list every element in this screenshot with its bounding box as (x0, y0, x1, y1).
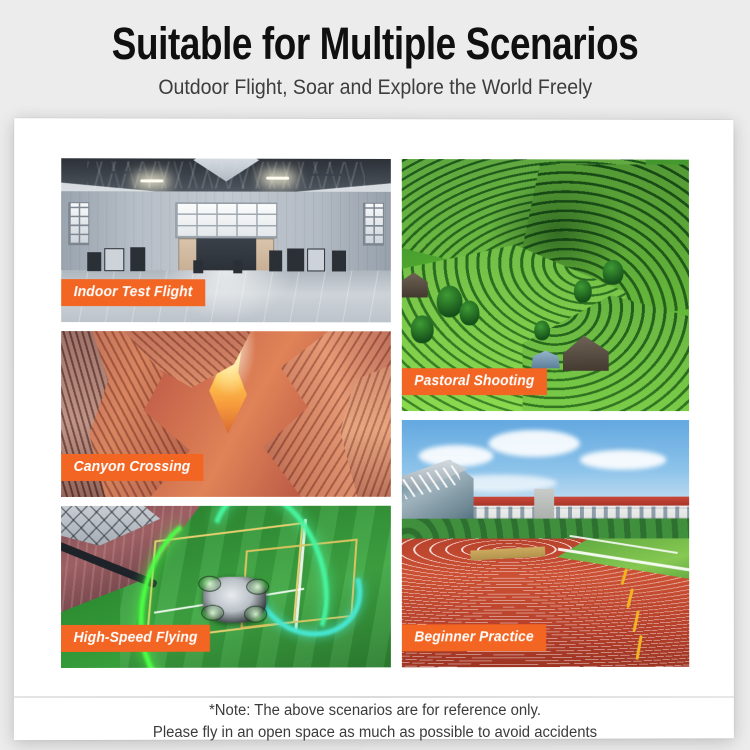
scenario-tile-canyon-crossing[interactable]: Canyon Crossing (61, 331, 391, 497)
hangar-equipment (131, 247, 146, 272)
side-window (68, 202, 89, 245)
hangar-equipment (88, 252, 101, 272)
clerestory-window (175, 203, 277, 239)
scenario-tile-indoor-test-flight[interactable]: Indoor Test Flight (61, 158, 391, 322)
hangar-equipment (287, 249, 303, 272)
gallery-card-wrapper: Indoor Test Flight Canyon Crossing (14, 118, 736, 740)
tree-icon (534, 320, 550, 340)
cloud-icon (488, 430, 580, 457)
page-title: Suitable for Multiple Scenarios (112, 20, 639, 67)
gallery-column-right: Pastoral Shooting (402, 159, 689, 667)
tree-icon (410, 315, 433, 343)
page-root: Suitable for Multiple Scenarios Outdoor … (0, 0, 750, 750)
scenario-caption-chip: Pastoral Shooting (402, 368, 547, 395)
tree-icon (436, 285, 462, 318)
tree-icon (574, 280, 591, 303)
drone-propeller-icon (244, 606, 267, 622)
cloud-icon (580, 450, 666, 470)
ceiling-beam (309, 174, 342, 176)
footer-note-line-2: Please fly in an open space as much as p… (15, 722, 735, 744)
hangar-equipment (307, 249, 325, 272)
hangar-equipment (233, 260, 243, 273)
page-header: Suitable for Multiple Scenarios Outdoor … (0, 0, 750, 120)
scenario-caption-chip: Canyon Crossing (61, 454, 203, 481)
hangar-equipment (332, 250, 347, 271)
tree-icon (603, 260, 623, 285)
ceiling-lamp-icon (140, 180, 163, 183)
scenario-gallery-grid: Indoor Test Flight Canyon Crossing (61, 158, 689, 668)
scenario-tile-beginner-practice[interactable]: Beginner Practice (402, 420, 689, 667)
ceiling-beam (107, 171, 140, 173)
hangar-equipment (269, 250, 282, 271)
drone-propeller-icon (198, 575, 221, 591)
tree-icon (459, 300, 479, 325)
gallery-column-left: Indoor Test Flight Canyon Crossing (61, 158, 391, 668)
page-subtitle: Outdoor Flight, Soar and Explore the Wor… (158, 76, 592, 100)
side-window (363, 203, 384, 246)
ceiling-lamp-icon (266, 177, 289, 180)
drone-propeller-icon (246, 579, 269, 595)
footer-note-line-1: *Note: The above scenarios are for refer… (15, 700, 735, 722)
scenario-caption-chip: High-Speed Flying (61, 625, 210, 652)
scenario-tile-high-speed-flying[interactable]: High-Speed Flying (61, 506, 391, 668)
footer-note: *Note: The above scenarios are for refer… (0, 700, 750, 745)
scenario-tile-pastoral-shooting[interactable]: Pastoral Shooting (402, 159, 689, 411)
scenario-caption-chip: Indoor Test Flight (61, 279, 205, 306)
gallery-card: Indoor Test Flight Canyon Crossing (14, 118, 734, 740)
hangar-equipment (193, 260, 203, 273)
hangar-equipment (104, 248, 124, 271)
scenario-caption-chip: Beginner Practice (402, 624, 546, 651)
footer-divider (14, 696, 736, 698)
